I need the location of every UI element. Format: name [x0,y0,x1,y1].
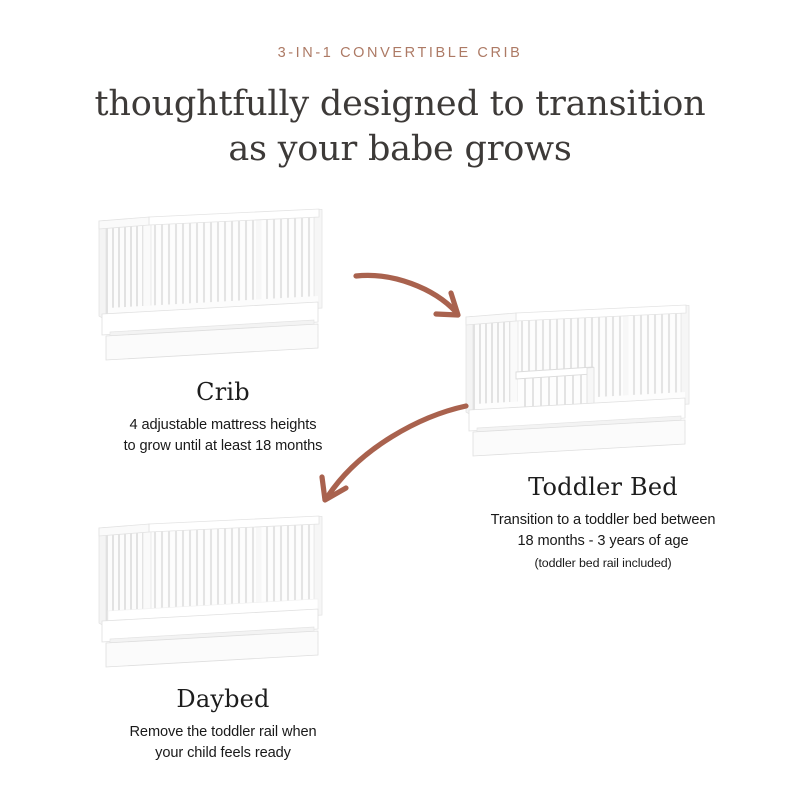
daybed-title: Daybed [73,685,373,713]
daybed-desc-line-2: your child feels ready [73,743,373,764]
page-title-line-2: as your babe grows [0,127,800,172]
crib-title: Crib [73,378,373,406]
toddler-desc-line-1: Transition to a toddler bed between [443,510,763,531]
daybed-description: Remove the toddler rail when your child … [73,722,373,763]
crib-left-post [99,221,106,321]
toddler-bed-description: Transition to a toddler bed between 18 m… [443,510,763,551]
toddler-bed-illustration [463,292,715,464]
daybed-desc-line-1: Remove the toddler rail when [73,722,373,743]
crib-caption: Crib 4 adjustable mattress heights to gr… [73,378,373,456]
crib-description: 4 adjustable mattress heights to grow un… [73,415,373,456]
page-title: thoughtfully designed to transition as y… [0,82,800,172]
crib-corner-post [143,217,151,319]
eyebrow-label: 3-IN-1 CONVERTIBLE CRIB [0,45,800,61]
toddler-right-post [681,306,689,405]
daybed-caption: Daybed Remove the toddler rail when your… [73,685,373,763]
toddler-desc-line-2: 18 months - 3 years of age [443,531,763,552]
crib-desc-line-2: to grow until at least 18 months [73,436,373,457]
crib-right-post [314,210,322,309]
toddler-bed-caption: Toddler Bed Transition to a toddler bed … [443,473,763,570]
crib-desc-line-1: 4 adjustable mattress heights [73,415,373,436]
toddler-corner-post [510,313,518,415]
page-title-line-1: thoughtfully designed to transition [0,82,800,127]
crib-illustration [96,196,348,368]
toddler-bed-note: (toddler bed rail included) [443,556,763,570]
daybed-left-post [99,528,106,628]
toddler-bed-title: Toddler Bed [443,473,763,501]
daybed-illustration [96,503,348,675]
